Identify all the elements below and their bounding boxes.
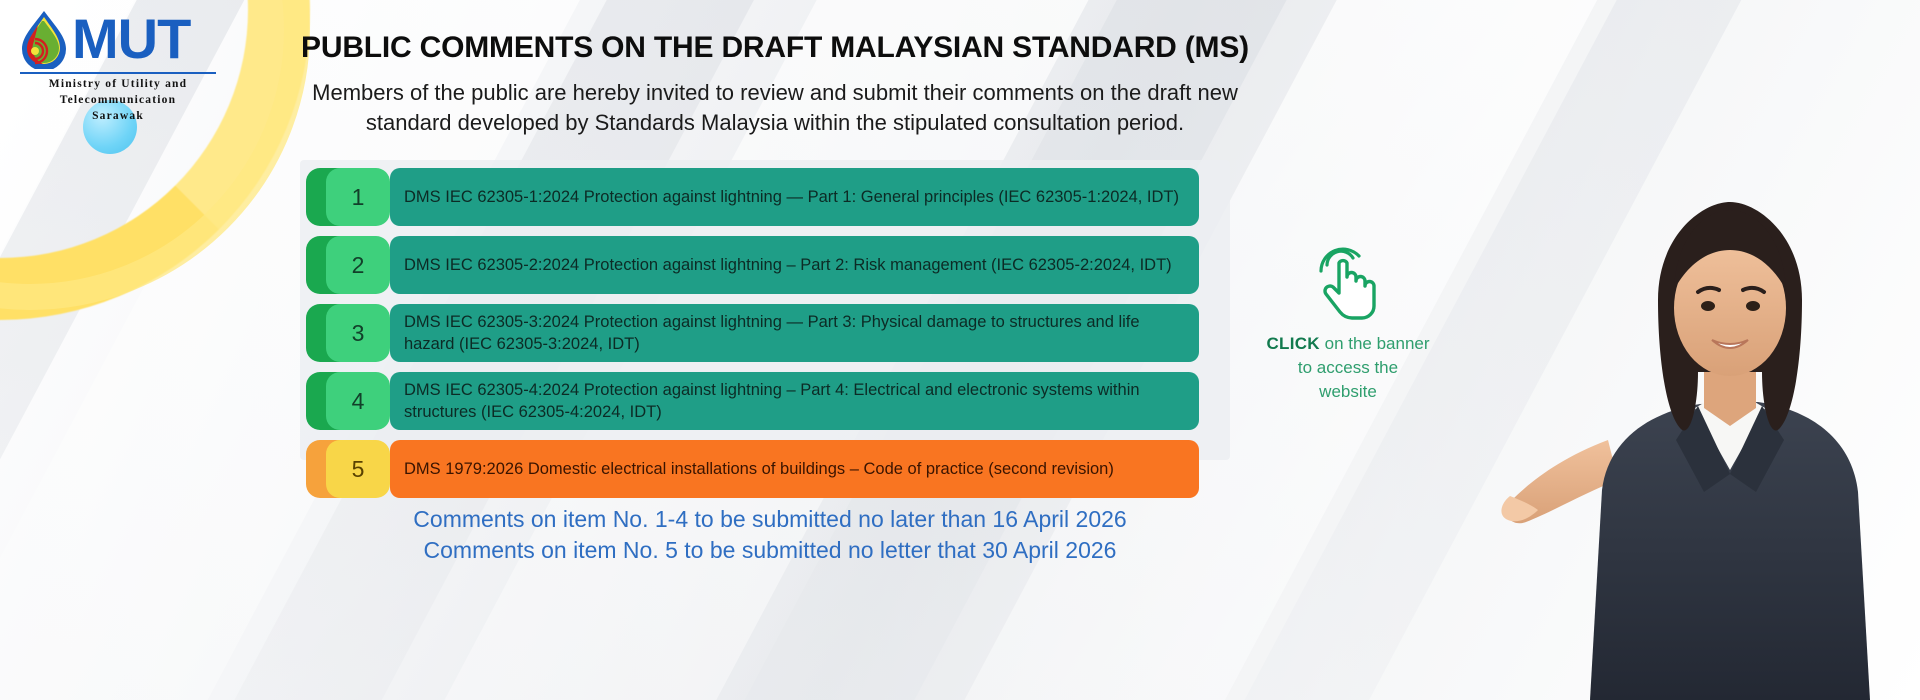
logo-subtitle-line-3: Sarawak [18, 109, 218, 123]
item-title-bar[interactable]: DMS 1979:2026 Domestic electrical instal… [390, 440, 1199, 498]
click-emphasis: CLICK [1266, 334, 1319, 353]
click-line-3: website [1319, 382, 1377, 401]
item-title-bar[interactable]: DMS IEC 62305-2:2024 Protection against … [390, 236, 1199, 294]
item-number-label: 2 [326, 236, 390, 294]
deadline-notes: Comments on item No. 1-4 to be submitted… [300, 504, 1240, 566]
headline-block: PUBLIC COMMENTS ON THE DRAFT MALAYSIAN S… [260, 28, 1290, 138]
page-title: PUBLIC COMMENTS ON THE DRAFT MALAYSIAN S… [260, 28, 1290, 68]
mut-wordmark: MUT [72, 9, 190, 69]
mut-logo: MUT Ministry of Utility and Telecommunic… [18, 8, 218, 123]
click-callout[interactable]: CLICK on the banner to access the websit… [1248, 240, 1448, 404]
item-number-badge: 2 [306, 236, 390, 294]
item-number-badge: 1 [306, 168, 390, 226]
public-comments-banner: MUT Ministry of Utility and Telecommunic… [0, 0, 1920, 700]
click-rest: on the banner [1320, 334, 1430, 353]
standards-list: 1DMS IEC 62305-1:2024 Protection against… [306, 168, 1199, 508]
click-callout-text: CLICK on the banner to access the websit… [1248, 332, 1448, 404]
item-number-label: 4 [326, 372, 390, 430]
standards-list-item[interactable]: 4DMS IEC 62305-4:2024 Protection against… [306, 372, 1199, 430]
deadline-line-2: Comments on item No. 5 to be submitted n… [300, 535, 1240, 566]
item-number-label: 5 [326, 440, 390, 498]
item-number-badge: 4 [306, 372, 390, 430]
deadline-line-1: Comments on item No. 1-4 to be submitted… [300, 504, 1240, 535]
item-title-bar[interactable]: DMS IEC 62305-1:2024 Protection against … [390, 168, 1199, 226]
standards-list-item[interactable]: 3DMS IEC 62305-3:2024 Protection against… [306, 304, 1199, 362]
logo-divider [20, 72, 216, 74]
hand-click-cursor-icon [1248, 240, 1448, 322]
item-title-bar[interactable]: DMS IEC 62305-3:2024 Protection against … [390, 304, 1199, 362]
standards-list-item[interactable]: 1DMS IEC 62305-1:2024 Protection against… [306, 168, 1199, 226]
item-title-bar[interactable]: DMS IEC 62305-4:2024 Protection against … [390, 372, 1199, 430]
standards-list-item[interactable]: 2DMS IEC 62305-2:2024 Protection against… [306, 236, 1199, 294]
item-number-label: 1 [326, 168, 390, 226]
presenter-photo [1490, 140, 1920, 700]
click-line-2: to access the [1298, 358, 1398, 377]
standards-list-item[interactable]: 5DMS 1979:2026 Domestic electrical insta… [306, 440, 1199, 498]
subtitle-line-2: standard developed by Standards Malaysia… [260, 108, 1290, 138]
item-number-badge: 3 [306, 304, 390, 362]
item-number-label: 3 [326, 304, 390, 362]
item-number-badge: 5 [306, 440, 390, 498]
mut-flame-droplet-logo-icon [18, 9, 70, 69]
subtitle-line-1: Members of the public are hereby invited… [260, 78, 1290, 108]
logo-subtitle-line-1: Ministry of Utility and [18, 77, 218, 91]
logo-subtitle-line-2: Telecommunication [18, 93, 218, 107]
